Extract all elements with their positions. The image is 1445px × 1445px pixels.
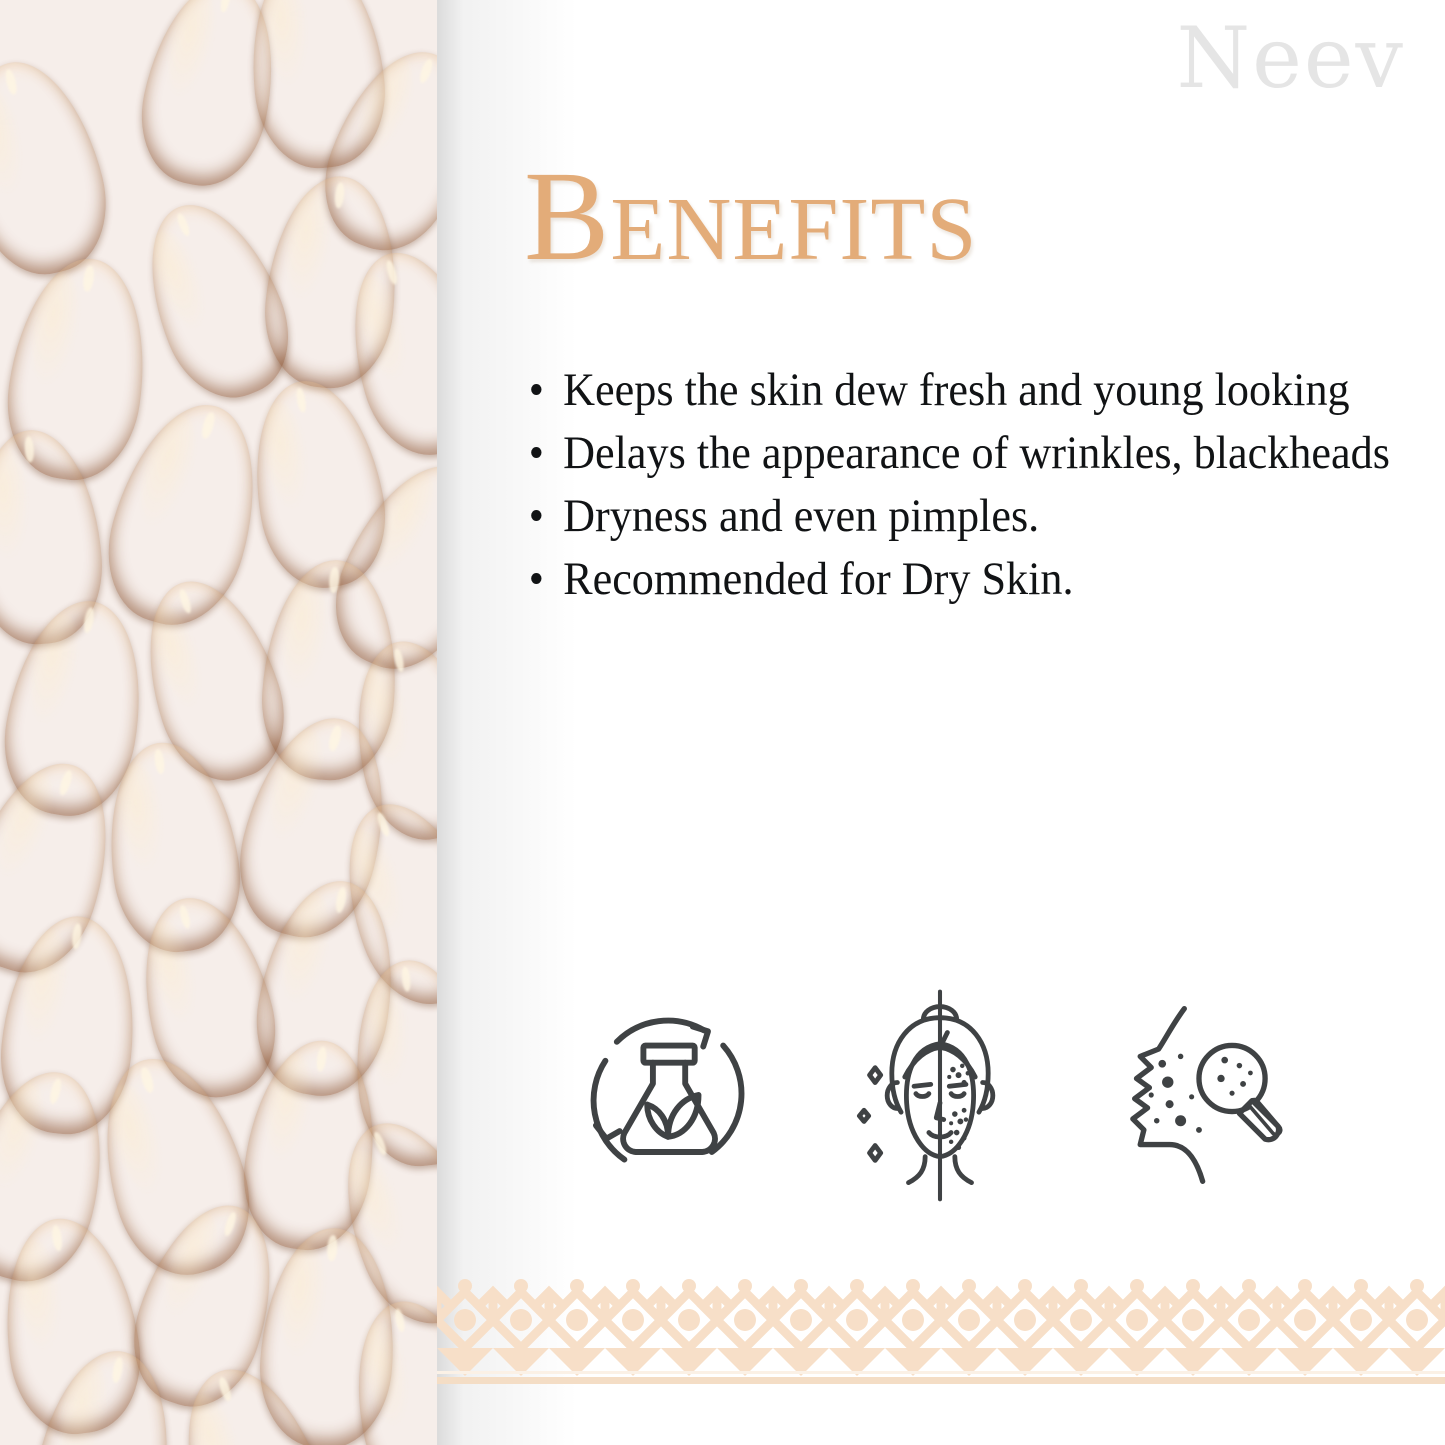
bullet-dot-icon <box>531 573 541 584</box>
list-item-label: Dryness and even pimples. <box>563 490 1039 542</box>
bullet-dot-icon <box>531 384 541 395</box>
infographic-canvas: Neev Benefits Keeps the skin dew fresh a… <box>0 0 1445 1445</box>
benefits-list: Keeps the skin dew fresh and young looki… <box>518 360 1445 612</box>
bullet-dot-icon <box>531 510 541 521</box>
skin-magnifier-profile-icon <box>1100 975 1320 1215</box>
list-item-label: Keeps the skin dew fresh and young looki… <box>563 364 1350 416</box>
list-item-label: Delays the appearance of wrinkles, black… <box>563 427 1390 479</box>
ornament-rule-highlight <box>437 1371 1445 1374</box>
page-title: Benefits <box>524 152 977 280</box>
list-item: Delays the appearance of wrinkles, black… <box>518 423 1390 484</box>
list-item: Dryness and even pimples. <box>518 486 1390 547</box>
ornamental-border-pattern <box>437 1276 1445 1376</box>
feature-icon-row <box>560 975 1320 1215</box>
ornament-rule <box>437 1377 1445 1384</box>
almond-photo-panel <box>0 0 437 1445</box>
list-item: Recommended for Dry Skin. <box>518 549 1390 610</box>
natural-lab-flask-recycle-icon <box>560 975 780 1215</box>
brand-logo[interactable]: Neev <box>1177 16 1405 100</box>
list-item: Keeps the skin dew fresh and young looki… <box>518 360 1390 421</box>
list-item-label: Recommended for Dry Skin. <box>563 553 1073 605</box>
split-face-acne-comparison-icon <box>830 975 1050 1215</box>
bullet-dot-icon <box>531 447 541 458</box>
